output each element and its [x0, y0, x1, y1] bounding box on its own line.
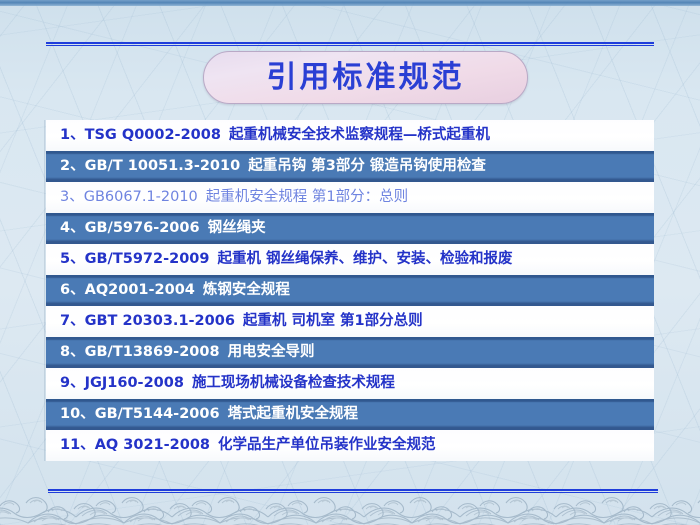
- standard-name: 起重机 钢丝绳保养、维护、安装、检验和报废: [217, 252, 512, 267]
- top-divider-rule: [46, 42, 654, 47]
- standard-row[interactable]: 1、TSG Q0002-2008起重机械安全技术监察规程—桥式起重机: [46, 120, 654, 151]
- standard-code: TSG Q0002-2008: [85, 128, 221, 143]
- standard-code: GBT 20303.1-2006: [85, 314, 235, 329]
- standard-name: 施工现场机械设备检查技术规程: [192, 376, 395, 391]
- standard-index: 11、: [60, 438, 95, 453]
- standard-code: AQ2001-2004: [85, 283, 195, 298]
- standard-row[interactable]: 11、AQ 3021-2008化学品生产单位吊装作业安全规范: [46, 430, 654, 461]
- standards-list: 1、TSG Q0002-2008起重机械安全技术监察规程—桥式起重机2、GB/T…: [46, 120, 654, 461]
- standard-index: 6、: [60, 283, 85, 298]
- page-title: 引用标准规范: [267, 63, 465, 93]
- standard-name: 起重机械安全技术监察规程—桥式起重机: [229, 128, 490, 143]
- standard-row[interactable]: 6、AQ2001-2004炼钢安全规程: [46, 275, 654, 306]
- standard-name: 起重吊钩 第3部分 锻造吊钩使用检查: [248, 159, 486, 174]
- slide-canvas: 引用标准规范 1、TSG Q0002-2008起重机械安全技术监察规程—桥式起重…: [0, 0, 700, 525]
- standard-name: 用电安全导则: [228, 345, 315, 360]
- standard-row[interactable]: 4、GB/5976-2006钢丝绳夹: [46, 213, 654, 244]
- standard-row[interactable]: 8、GB/T13869-2008用电安全导则: [46, 337, 654, 368]
- standard-name: 化学品生产单位吊装作业安全规范: [218, 438, 436, 453]
- standard-index: 10、: [60, 407, 95, 422]
- standard-index: 4、: [60, 221, 85, 236]
- standard-code: GB6067.1-2010: [84, 190, 198, 205]
- standard-index: 3、: [60, 190, 84, 205]
- standard-code: GB/T 10051.3-2010: [85, 159, 241, 174]
- standard-code: GB/T13869-2008: [85, 345, 220, 360]
- standard-index: 7、: [60, 314, 85, 329]
- standard-name: 钢丝绳夹: [208, 221, 266, 236]
- top-edge-strip: [0, 0, 700, 6]
- standard-code: GB/T5972-2009: [85, 252, 210, 267]
- standard-row[interactable]: 5、GB/T5972-2009起重机 钢丝绳保养、维护、安装、检验和报废: [46, 244, 654, 275]
- standard-index: 8、: [60, 345, 85, 360]
- standard-index: 9、: [60, 376, 85, 391]
- standard-row[interactable]: 7、GBT 20303.1-2006起重机 司机室 第1部分总则: [46, 306, 654, 337]
- standard-index: 5、: [60, 252, 85, 267]
- standard-name: 起重机 司机室 第1部分总则: [243, 314, 423, 329]
- slide-title-plaque: 引用标准规范: [203, 51, 528, 104]
- standard-row[interactable]: 9、JGJ160-2008施工现场机械设备检查技术规程: [46, 368, 654, 399]
- standard-name: 起重机安全规程 第1部分：总则: [206, 190, 408, 205]
- standard-row[interactable]: 3、GB6067.1-2010起重机安全规程 第1部分：总则: [46, 182, 654, 213]
- standard-index: 1、: [60, 128, 85, 143]
- standard-index: 2、: [60, 159, 85, 174]
- standard-code: GB/T5144-2006: [95, 407, 220, 422]
- standard-row[interactable]: 2、GB/T 10051.3-2010起重吊钩 第3部分 锻造吊钩使用检查: [46, 151, 654, 182]
- wave-pattern-border: [0, 491, 700, 525]
- standard-code: AQ 3021-2008: [95, 438, 210, 453]
- wave-pattern-icon: [0, 491, 700, 525]
- standard-row[interactable]: 10、GB/T5144-2006塔式起重机安全规程: [46, 399, 654, 430]
- standard-code: JGJ160-2008: [85, 376, 184, 391]
- standard-name: 塔式起重机安全规程: [228, 407, 359, 422]
- standard-code: GB/5976-2006: [85, 221, 200, 236]
- standard-name: 炼钢安全规程: [203, 283, 290, 298]
